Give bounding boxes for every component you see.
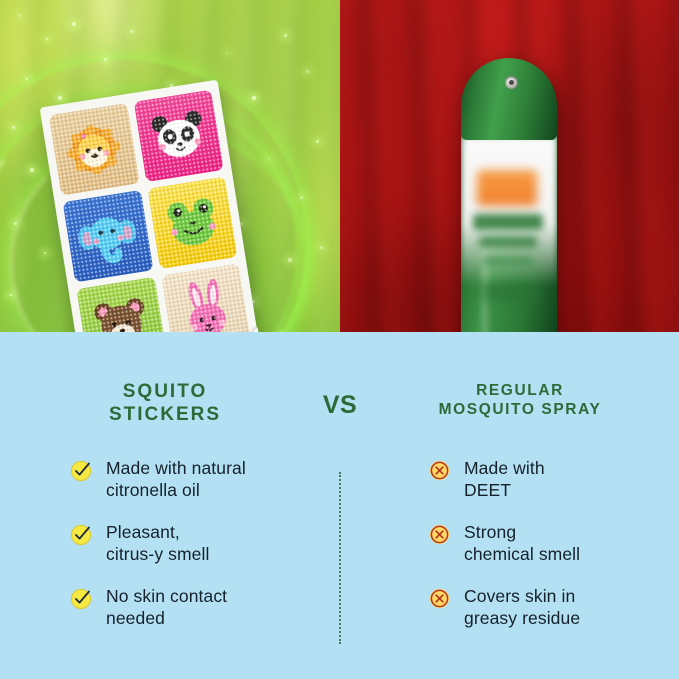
sticker-bunny (161, 264, 251, 332)
cross-circle-icon (428, 587, 451, 610)
list-item-line1: Made with (464, 458, 545, 478)
can-label-text-block (473, 214, 543, 230)
sticker-elephant (63, 190, 153, 282)
sparkle-icon (30, 168, 34, 172)
sparkle-icon (300, 196, 303, 199)
list-item: Pleasant, citrus-y smell (70, 521, 320, 566)
list-item-text: Made with natural citronella oil (106, 457, 246, 502)
sparkle-icon (226, 52, 228, 54)
check-circle-icon (70, 587, 93, 610)
can-label-text-block (481, 282, 537, 302)
sparkle-icon (44, 252, 46, 254)
sticker-frog (147, 177, 237, 269)
sparkle-icon (104, 58, 107, 61)
sticker-panda (133, 90, 223, 182)
sparkle-icon (288, 258, 292, 262)
list-item-line1: Strong (464, 522, 516, 542)
list-item: Made with DEET (428, 457, 668, 502)
can-label-text-block (483, 256, 533, 266)
left-product-title: SQUITO STICKERS (40, 380, 290, 426)
list-item-text: No skin contact needed (106, 585, 227, 630)
sparkle-icon (306, 70, 309, 73)
list-item-line1: No skin contact (106, 586, 227, 606)
list-item-line1: Pleasant, (106, 522, 180, 542)
can-body (461, 132, 557, 332)
list-item-line1: Covers skin in (464, 586, 575, 606)
cross-circle-icon (428, 459, 451, 482)
list-item-line2: chemical smell (464, 544, 580, 564)
spray-nozzle-button (505, 76, 518, 89)
list-item: No skin contact needed (70, 585, 320, 630)
list-item-text: Pleasant, citrus-y smell (106, 521, 210, 566)
sticker-lion (49, 103, 139, 195)
list-item-line1: Made with natural (106, 458, 246, 478)
sparkle-icon (252, 96, 256, 100)
sparkle-icon (10, 294, 12, 296)
hero-image-row (0, 0, 679, 332)
list-item-line2: DEET (464, 480, 511, 500)
right-product-title-line1: REGULAR (390, 382, 650, 401)
list-item: Made with natural citronella oil (70, 457, 320, 502)
comparison-titles: SQUITO STICKERS VS REGULAR MOSQUITO SPRA… (0, 380, 679, 442)
sparkle-icon (14, 222, 17, 225)
right-product-title: REGULAR MOSQUITO SPRAY (390, 382, 650, 420)
left-benefit-list: Made with natural citronella oil Pleasan… (70, 457, 320, 648)
can-label-text-block (479, 236, 537, 248)
mosquito-spray-can (461, 58, 557, 332)
sparkle-icon (18, 14, 21, 17)
right-benefit-list: Made with DEET Strong chemical (428, 457, 668, 648)
left-product-title-line1: SQUITO (40, 380, 290, 403)
list-item-line2: citrus-y smell (106, 544, 210, 564)
sparkle-icon (316, 140, 319, 143)
sparkle-icon (320, 246, 323, 249)
vs-label: VS (295, 390, 385, 421)
cross-circle-icon (428, 523, 451, 546)
sparkle-icon (284, 34, 287, 37)
vertical-dotted-divider (339, 472, 341, 644)
comparison-infographic: SQUITO STICKERS VS REGULAR MOSQUITO SPRA… (0, 0, 679, 679)
sparkle-icon (72, 22, 76, 26)
list-item-text: Made with DEET (464, 457, 545, 502)
hero-left-panel (0, 0, 340, 332)
comparison-section: SQUITO STICKERS VS REGULAR MOSQUITO SPRA… (0, 332, 679, 679)
sparkle-icon (268, 158, 270, 160)
right-product-title-line2: MOSQUITO SPRAY (390, 401, 650, 420)
list-item-line2: citronella oil (106, 480, 200, 500)
sparkle-icon (130, 30, 133, 33)
sparkle-icon (26, 78, 28, 80)
list-item-line2: greasy residue (464, 608, 580, 628)
sparkle-icon (46, 38, 48, 40)
list-item: Strong chemical smell (428, 521, 668, 566)
list-item-line2: needed (106, 608, 165, 628)
can-dome-cap (461, 58, 557, 140)
sparkle-icon (12, 126, 15, 129)
can-label-orange-block (477, 170, 537, 206)
list-item-text: Strong chemical smell (464, 521, 580, 566)
left-product-title-line2: STICKERS (40, 403, 290, 426)
list-item: Covers skin in greasy residue (428, 585, 668, 630)
sticker-bear (76, 277, 166, 332)
check-circle-icon (70, 459, 93, 482)
sparkle-icon (58, 96, 62, 100)
check-circle-icon (70, 523, 93, 546)
list-item-text: Covers skin in greasy residue (464, 585, 580, 630)
